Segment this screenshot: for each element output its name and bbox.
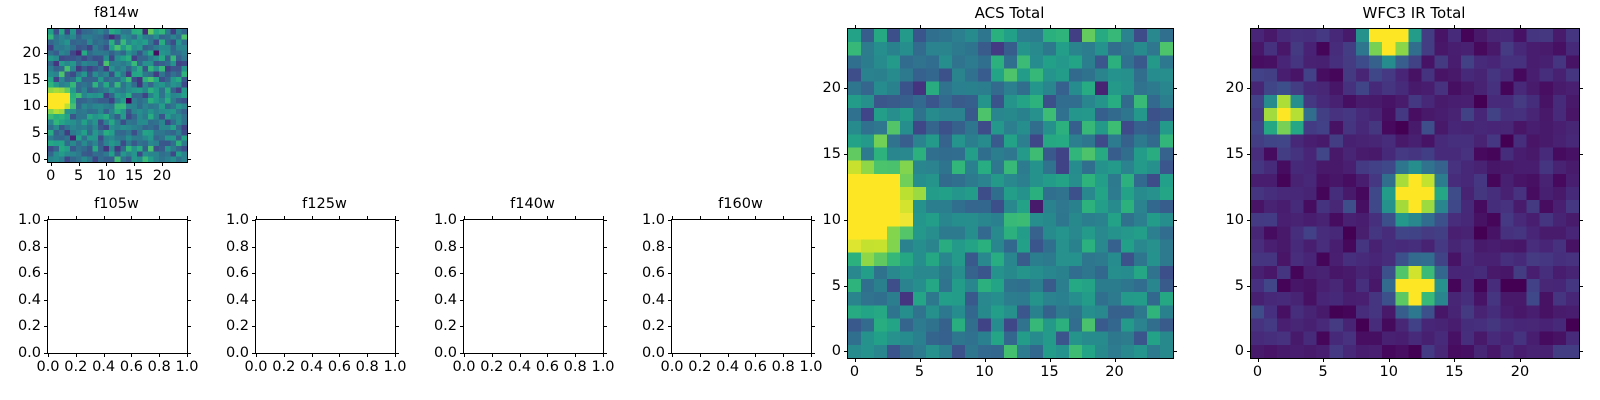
plot-area-f814w (47, 28, 188, 163)
x-tick-top-f105w-2 (104, 216, 105, 220)
y-tick-right-f105w-1 (187, 326, 191, 327)
y-tick-label-wfc3-ir-total-1: 5 (1190, 278, 1244, 293)
y-tick-wfc3-ir-total-0 (1247, 351, 1251, 352)
x-tick-f140w-5 (603, 353, 604, 357)
x-tick-top-f140w-4 (575, 216, 576, 220)
x-tick-acs-total-4 (1115, 358, 1116, 362)
x-tick-acs-total-0 (855, 358, 856, 362)
y-tick-right-f125w-3 (395, 273, 399, 274)
panel-title-f140w: f140w (463, 197, 602, 212)
x-tick-label-acs-total-0: 0 (850, 365, 859, 380)
x-tick-label-f160w-3: 0.6 (744, 360, 767, 375)
x-tick-label-wfc3-ir-total-3: 15 (1445, 365, 1463, 380)
x-tick-f160w-0 (672, 353, 673, 357)
y-tick-label-f140w-1: 0.2 (403, 319, 457, 334)
x-tick-f140w-4 (575, 353, 576, 357)
x-tick-label-f140w-5: 1.0 (591, 360, 614, 375)
y-tick-right-f160w-0 (811, 353, 815, 354)
y-tick-f160w-5 (668, 220, 672, 221)
y-tick-wfc3-ir-total-3 (1247, 154, 1251, 155)
y-tick-right-f105w-4 (187, 247, 191, 248)
x-tick-top-f125w-5 (395, 216, 396, 220)
y-tick-label-f160w-4: 0.8 (611, 239, 665, 254)
x-tick-top-f125w-0 (256, 216, 257, 220)
x-tick-top-wfc3-ir-total-2 (1389, 25, 1390, 29)
x-tick-top-f125w-1 (284, 216, 285, 220)
y-tick-label-f140w-5: 1.0 (403, 213, 457, 228)
y-tick-label-f140w-4: 0.8 (403, 239, 457, 254)
y-tick-label-f105w-3: 0.6 (0, 266, 41, 281)
x-tick-label-f105w-1: 0.2 (64, 360, 87, 375)
x-tick-wfc3-ir-total-3 (1454, 358, 1455, 362)
y-tick-f140w-1 (460, 326, 464, 327)
y-tick-label-f140w-2: 0.4 (403, 293, 457, 308)
x-tick-top-f105w-5 (187, 216, 188, 220)
y-tick-label-f125w-0: 0.0 (195, 346, 249, 361)
y-tick-f105w-1 (44, 326, 48, 327)
panel-f140w: f140w0.00.20.40.60.81.00.00.20.40.60.81.… (0, 0, 1600, 400)
x-tick-label-f140w-3: 0.6 (536, 360, 559, 375)
x-tick-f140w-1 (492, 353, 493, 357)
y-tick-f160w-2 (668, 300, 672, 301)
heatmap-image-acs-total (848, 29, 1173, 358)
x-tick-label-f814w-2: 10 (97, 169, 115, 184)
x-tick-top-f125w-3 (339, 216, 340, 220)
x-tick-top-wfc3-ir-total-4 (1520, 25, 1521, 29)
x-tick-label-f105w-3: 0.6 (120, 360, 143, 375)
y-tick-f105w-5 (44, 220, 48, 221)
y-tick-label-f814w-4: 20 (0, 46, 41, 61)
y-tick-label-acs-total-0: 0 (787, 344, 841, 359)
y-tick-label-acs-total-4: 20 (787, 81, 841, 96)
y-tick-right-f160w-2 (811, 300, 815, 301)
y-tick-right-f125w-1 (395, 326, 399, 327)
y-tick-f140w-2 (460, 300, 464, 301)
y-tick-right-f140w-4 (603, 247, 607, 248)
y-tick-right-f814w-2 (187, 106, 191, 107)
y-tick-f814w-0 (44, 159, 48, 160)
y-tick-f140w-5 (460, 220, 464, 221)
x-tick-acs-total-2 (985, 358, 986, 362)
y-tick-label-f814w-2: 10 (0, 99, 41, 114)
x-tick-f125w-5 (395, 353, 396, 357)
x-tick-label-f814w-1: 5 (74, 169, 83, 184)
x-tick-f105w-3 (131, 353, 132, 357)
x-tick-f105w-4 (159, 353, 160, 357)
x-tick-f125w-0 (256, 353, 257, 357)
x-tick-top-f105w-4 (159, 216, 160, 220)
x-tick-f160w-2 (728, 353, 729, 357)
x-tick-f160w-1 (700, 353, 701, 357)
y-tick-right-f125w-0 (395, 353, 399, 354)
x-tick-acs-total-1 (920, 358, 921, 362)
plot-area-f140w (463, 219, 604, 354)
y-tick-right-acs-total-1 (1173, 286, 1177, 287)
y-tick-right-acs-total-4 (1173, 88, 1177, 89)
plot-area-f160w (671, 219, 812, 354)
x-tick-f814w-1 (79, 162, 80, 166)
x-tick-top-f140w-5 (603, 216, 604, 220)
y-tick-f140w-4 (460, 247, 464, 248)
x-tick-f814w-4 (162, 162, 163, 166)
x-tick-top-f814w-4 (162, 25, 163, 29)
y-tick-label-wfc3-ir-total-4: 20 (1190, 81, 1244, 96)
x-tick-label-wfc3-ir-total-4: 20 (1511, 365, 1529, 380)
x-tick-top-f814w-1 (79, 25, 80, 29)
x-tick-top-f160w-2 (728, 216, 729, 220)
y-tick-label-wfc3-ir-total-2: 10 (1190, 213, 1244, 228)
panel-f814w: f814w0510152005101520 (0, 0, 1600, 400)
panel-title-f125w: f125w (255, 197, 394, 212)
x-tick-wfc3-ir-total-1 (1323, 358, 1324, 362)
x-tick-top-f105w-1 (76, 216, 77, 220)
y-tick-right-f105w-2 (187, 300, 191, 301)
y-tick-label-acs-total-3: 15 (787, 147, 841, 162)
y-tick-f140w-3 (460, 273, 464, 274)
y-tick-label-f160w-2: 0.4 (611, 293, 665, 308)
y-tick-acs-total-4 (844, 88, 848, 89)
x-tick-label-f160w-2: 0.4 (716, 360, 739, 375)
y-tick-label-f140w-3: 0.6 (403, 266, 457, 281)
x-tick-label-f160w-1: 0.2 (688, 360, 711, 375)
y-tick-label-acs-total-1: 5 (787, 278, 841, 293)
x-tick-label-f160w-4: 0.8 (772, 360, 795, 375)
y-tick-label-f160w-5: 1.0 (611, 213, 665, 228)
x-tick-top-f140w-3 (547, 216, 548, 220)
x-tick-label-f160w-0: 0.0 (660, 360, 683, 375)
x-tick-label-f105w-5: 1.0 (175, 360, 198, 375)
y-tick-f814w-1 (44, 133, 48, 134)
y-tick-f160w-0 (668, 353, 672, 354)
plot-area-wfc3-ir-total (1250, 28, 1580, 359)
x-tick-f160w-3 (755, 353, 756, 357)
x-tick-label-f105w-4: 0.8 (148, 360, 171, 375)
x-tick-top-f105w-3 (131, 216, 132, 220)
y-tick-label-f160w-0: 0.0 (611, 346, 665, 361)
y-tick-right-f140w-1 (603, 326, 607, 327)
x-tick-label-f125w-3: 0.6 (328, 360, 351, 375)
y-tick-acs-total-1 (844, 286, 848, 287)
x-tick-label-f140w-1: 0.2 (480, 360, 503, 375)
y-tick-right-f814w-3 (187, 80, 191, 81)
x-tick-label-acs-total-2: 10 (975, 365, 993, 380)
x-tick-label-f125w-2: 0.4 (300, 360, 323, 375)
y-tick-label-f105w-1: 0.2 (0, 319, 41, 334)
y-tick-right-wfc3-ir-total-2 (1579, 220, 1583, 221)
x-tick-top-f160w-3 (755, 216, 756, 220)
x-tick-f105w-2 (104, 353, 105, 357)
x-tick-top-acs-total-4 (1115, 25, 1116, 29)
x-tick-label-f814w-3: 15 (125, 169, 143, 184)
x-tick-top-f125w-4 (367, 216, 368, 220)
x-tick-label-f814w-0: 0 (46, 169, 55, 184)
x-tick-f105w-0 (48, 353, 49, 357)
y-tick-label-f160w-3: 0.6 (611, 266, 665, 281)
y-tick-label-f125w-3: 0.6 (195, 266, 249, 281)
y-tick-right-f160w-3 (811, 273, 815, 274)
y-tick-f814w-4 (44, 53, 48, 54)
x-tick-f140w-2 (520, 353, 521, 357)
x-tick-f140w-3 (547, 353, 548, 357)
panel-acs-total: ACS Total0510152005101520 (0, 0, 1600, 400)
y-tick-label-f105w-4: 0.8 (0, 239, 41, 254)
y-tick-f814w-2 (44, 106, 48, 107)
y-tick-label-wfc3-ir-total-3: 15 (1190, 147, 1244, 162)
x-tick-label-wfc3-ir-total-2: 10 (1380, 365, 1398, 380)
x-tick-f814w-3 (134, 162, 135, 166)
y-tick-right-f105w-3 (187, 273, 191, 274)
x-tick-f125w-2 (312, 353, 313, 357)
y-tick-f160w-4 (668, 247, 672, 248)
x-tick-wfc3-ir-total-2 (1389, 358, 1390, 362)
y-tick-f105w-3 (44, 273, 48, 274)
y-tick-acs-total-0 (844, 351, 848, 352)
x-tick-label-wfc3-ir-total-0: 0 (1253, 365, 1262, 380)
y-tick-label-f814w-1: 5 (0, 125, 41, 140)
x-tick-top-f160w-4 (783, 216, 784, 220)
y-tick-label-f105w-0: 0.0 (0, 346, 41, 361)
y-tick-right-f814w-4 (187, 53, 191, 54)
y-tick-right-f160w-1 (811, 326, 815, 327)
y-tick-label-acs-total-2: 10 (787, 213, 841, 228)
x-tick-top-f140w-0 (464, 216, 465, 220)
x-tick-f125w-3 (339, 353, 340, 357)
x-tick-wfc3-ir-total-0 (1258, 358, 1259, 362)
y-tick-right-acs-total-2 (1173, 220, 1177, 221)
x-tick-top-f160w-1 (700, 216, 701, 220)
y-tick-right-wfc3-ir-total-1 (1579, 286, 1583, 287)
figure-canvas: f814w0510152005101520f105w0.00.20.40.60.… (0, 0, 1600, 400)
x-tick-f140w-0 (464, 353, 465, 357)
y-tick-right-f140w-3 (603, 273, 607, 274)
panel-f160w: f160w0.00.20.40.60.81.00.00.20.40.60.81.… (0, 0, 1600, 400)
y-tick-right-f125w-2 (395, 300, 399, 301)
x-tick-wfc3-ir-total-4 (1520, 358, 1521, 362)
x-tick-top-f140w-1 (492, 216, 493, 220)
x-tick-top-wfc3-ir-total-3 (1454, 25, 1455, 29)
y-tick-right-f105w-5 (187, 220, 191, 221)
y-tick-f105w-4 (44, 247, 48, 248)
x-tick-top-wfc3-ir-total-1 (1323, 25, 1324, 29)
x-tick-top-wfc3-ir-total-0 (1258, 25, 1259, 29)
y-tick-f105w-2 (44, 300, 48, 301)
y-tick-label-f125w-1: 0.2 (195, 319, 249, 334)
plot-area-f105w (47, 219, 188, 354)
x-tick-f125w-4 (367, 353, 368, 357)
plot-area-f125w (255, 219, 396, 354)
y-tick-f125w-4 (252, 247, 256, 248)
x-tick-f125w-1 (284, 353, 285, 357)
panel-f105w: f105w0.00.20.40.60.81.00.00.20.40.60.81.… (0, 0, 1600, 400)
x-tick-top-f160w-5 (811, 216, 812, 220)
x-tick-f160w-4 (783, 353, 784, 357)
x-tick-label-acs-total-3: 15 (1040, 365, 1058, 380)
y-tick-f125w-1 (252, 326, 256, 327)
y-tick-label-wfc3-ir-total-0: 0 (1190, 344, 1244, 359)
panel-title-f814w: f814w (47, 6, 186, 21)
x-tick-f814w-0 (51, 162, 52, 166)
panel-title-acs-total: ACS Total (847, 6, 1172, 21)
heatmap-image-wfc3-ir-total (1251, 29, 1579, 358)
x-tick-label-f814w-4: 20 (153, 169, 171, 184)
y-tick-right-wfc3-ir-total-4 (1579, 88, 1583, 89)
x-tick-f105w-5 (187, 353, 188, 357)
x-tick-top-acs-total-3 (1050, 25, 1051, 29)
x-tick-label-f105w-2: 0.4 (92, 360, 115, 375)
panel-title-f105w: f105w (47, 197, 186, 212)
x-tick-label-acs-total-4: 20 (1105, 365, 1123, 380)
panel-wfc3-ir-total: WFC3 IR Total0510152005101520 (0, 0, 1600, 400)
x-tick-label-f125w-4: 0.8 (356, 360, 379, 375)
x-tick-top-f105w-0 (48, 216, 49, 220)
y-tick-right-acs-total-0 (1173, 351, 1177, 352)
y-tick-f125w-5 (252, 220, 256, 221)
x-tick-top-f814w-0 (51, 25, 52, 29)
y-tick-right-f140w-5 (603, 220, 607, 221)
y-tick-right-f814w-1 (187, 133, 191, 134)
y-tick-label-f125w-4: 0.8 (195, 239, 249, 254)
y-tick-f814w-3 (44, 80, 48, 81)
y-tick-right-wfc3-ir-total-3 (1579, 154, 1583, 155)
y-tick-label-f814w-0: 0 (0, 152, 41, 167)
heatmap-image-f814w (48, 29, 187, 162)
y-tick-f125w-3 (252, 273, 256, 274)
x-tick-label-f105w-0: 0.0 (36, 360, 59, 375)
y-tick-acs-total-2 (844, 220, 848, 221)
y-tick-right-f140w-2 (603, 300, 607, 301)
x-tick-top-acs-total-0 (855, 25, 856, 29)
x-tick-f160w-5 (811, 353, 812, 357)
x-tick-top-f814w-2 (106, 25, 107, 29)
y-tick-f105w-0 (44, 353, 48, 354)
y-tick-right-f814w-0 (187, 159, 191, 160)
y-tick-right-f125w-5 (395, 220, 399, 221)
y-tick-wfc3-ir-total-4 (1247, 88, 1251, 89)
x-tick-f814w-2 (106, 162, 107, 166)
x-tick-label-f160w-5: 1.0 (799, 360, 822, 375)
panel-title-wfc3-ir-total: WFC3 IR Total (1250, 6, 1578, 21)
y-tick-label-f125w-2: 0.4 (195, 293, 249, 308)
x-tick-label-f140w-2: 0.4 (508, 360, 531, 375)
x-tick-top-f125w-2 (312, 216, 313, 220)
x-tick-label-f140w-0: 0.0 (452, 360, 475, 375)
y-tick-label-f125w-5: 1.0 (195, 213, 249, 228)
y-tick-label-f105w-5: 1.0 (0, 213, 41, 228)
y-tick-wfc3-ir-total-2 (1247, 220, 1251, 221)
x-tick-top-f814w-3 (134, 25, 135, 29)
y-tick-f125w-2 (252, 300, 256, 301)
x-tick-label-f125w-0: 0.0 (244, 360, 267, 375)
y-tick-right-f160w-4 (811, 247, 815, 248)
y-tick-f125w-0 (252, 353, 256, 354)
y-tick-acs-total-3 (844, 154, 848, 155)
x-tick-top-acs-total-2 (985, 25, 986, 29)
y-tick-wfc3-ir-total-1 (1247, 286, 1251, 287)
y-tick-label-f814w-3: 15 (0, 72, 41, 87)
y-tick-right-f105w-0 (187, 353, 191, 354)
y-tick-right-acs-total-3 (1173, 154, 1177, 155)
x-tick-top-f160w-0 (672, 216, 673, 220)
y-tick-label-f105w-2: 0.4 (0, 293, 41, 308)
y-tick-f160w-3 (668, 273, 672, 274)
y-tick-right-f125w-4 (395, 247, 399, 248)
y-tick-right-f160w-5 (811, 220, 815, 221)
panel-f125w: f125w0.00.20.40.60.81.00.00.20.40.60.81.… (0, 0, 1600, 400)
x-tick-label-acs-total-1: 5 (915, 365, 924, 380)
x-tick-label-f125w-5: 1.0 (383, 360, 406, 375)
x-tick-top-acs-total-1 (920, 25, 921, 29)
x-tick-label-wfc3-ir-total-1: 5 (1319, 365, 1328, 380)
x-tick-label-f140w-4: 0.8 (564, 360, 587, 375)
y-tick-label-f140w-0: 0.0 (403, 346, 457, 361)
x-tick-label-f125w-1: 0.2 (272, 360, 295, 375)
panel-title-f160w: f160w (671, 197, 810, 212)
y-tick-right-f140w-0 (603, 353, 607, 354)
x-tick-top-f140w-2 (520, 216, 521, 220)
x-tick-acs-total-3 (1050, 358, 1051, 362)
y-tick-label-f160w-1: 0.2 (611, 319, 665, 334)
y-tick-f160w-1 (668, 326, 672, 327)
x-tick-f105w-1 (76, 353, 77, 357)
plot-area-acs-total (847, 28, 1174, 359)
y-tick-right-wfc3-ir-total-0 (1579, 351, 1583, 352)
y-tick-f140w-0 (460, 353, 464, 354)
